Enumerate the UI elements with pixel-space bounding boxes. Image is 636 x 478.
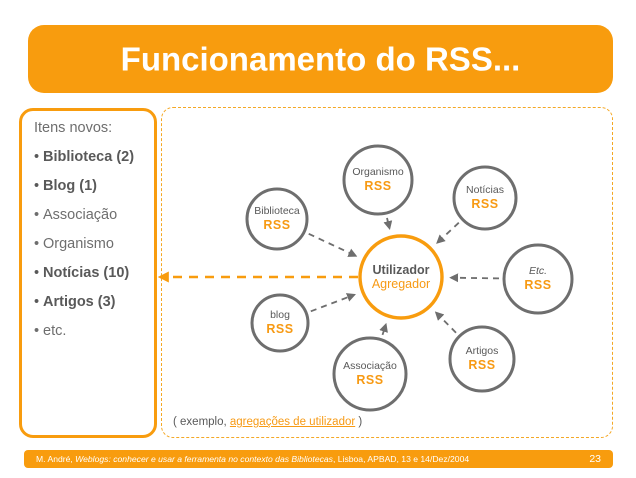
node-label-associa-o: AssociaçãoRSS <box>343 361 397 387</box>
bullet-icon: • <box>34 150 43 166</box>
source-node-name: Biblioteca <box>254 206 300 218</box>
footer-work-title: Weblogs: conhecer e usar a ferramenta no… <box>75 454 333 464</box>
page-title: Funcionamento do RSS... <box>28 43 613 76</box>
node-label-organismo: OrganismoRSS <box>352 167 403 193</box>
source-node-rss-badge: RSS <box>466 197 504 211</box>
new-items-list-item: •Biblioteca (2) <box>34 150 154 166</box>
source-node-name: blog <box>266 310 293 322</box>
source-node-rss-badge: RSS <box>266 322 293 336</box>
source-node-rss-badge: RSS <box>466 358 499 372</box>
bullet-icon: • <box>34 266 43 282</box>
source-node-name: Etc. <box>524 266 551 278</box>
source-node-rss-badge: RSS <box>254 218 300 232</box>
new-items-list-item-label: Notícias (10) <box>43 265 129 281</box>
bullet-icon: • <box>34 237 43 253</box>
new-items-list-item-label: Artigos (3) <box>43 294 116 310</box>
diagram-caption: ( exemplo, agregações de utilizador ) <box>173 416 362 428</box>
new-items-list: •Biblioteca (2)•Blog (1)•Associação•Orga… <box>34 150 154 340</box>
bullet-icon: • <box>34 179 43 195</box>
bullet-icon: • <box>34 208 43 224</box>
node-label-artigos: ArtigosRSS <box>466 346 499 372</box>
source-node-name: Associação <box>343 361 397 373</box>
new-items-list-item-label: Biblioteca (2) <box>43 149 134 165</box>
node-label-not-cias: NotíciasRSS <box>466 185 504 211</box>
new-items-list-item-label: etc. <box>43 323 66 339</box>
slide-title-bar: Funcionamento do RSS... <box>28 25 613 93</box>
source-node-name: Organismo <box>352 167 403 179</box>
new-items-list-item: •Notícias (10) <box>34 266 154 282</box>
caption-prefix: ( exemplo, <box>173 416 230 428</box>
new-items-list-item: •Associação <box>34 208 154 224</box>
new-items-list-item: •etc. <box>34 324 154 340</box>
source-node-rss-badge: RSS <box>343 373 397 387</box>
source-node-name: Notícias <box>466 185 504 197</box>
caption-suffix: ) <box>355 416 362 428</box>
node-label-utilizador-agregador: Utilizador Agregador <box>372 263 430 291</box>
new-items-panel: Itens novos: •Biblioteca (2)•Blog (1)•As… <box>19 108 157 438</box>
new-items-list-item-label: Organismo <box>43 236 114 252</box>
new-items-list-item: •Blog (1) <box>34 179 154 195</box>
node-label-etc: Etc.RSS <box>524 266 551 292</box>
footer-author: M. André, <box>36 454 75 464</box>
source-node-rss-badge: RSS <box>524 278 551 292</box>
new-items-list-item: •Artigos (3) <box>34 295 154 311</box>
new-items-list-item: •Organismo <box>34 237 154 253</box>
node-label-blog: blogRSS <box>266 310 293 336</box>
bullet-icon: • <box>34 295 43 311</box>
center-node-name: Utilizador <box>372 263 430 277</box>
bullet-icon: • <box>34 324 43 340</box>
footer-citation: M. André, Weblogs: conhecer e usar a fer… <box>36 454 469 464</box>
source-node-rss-badge: RSS <box>352 179 403 193</box>
new-items-header: Itens novos: <box>34 121 154 137</box>
new-items-list-item-label: Associação <box>43 207 117 223</box>
center-node-sub: Agregador <box>372 277 430 291</box>
footer-bar: M. André, Weblogs: conhecer e usar a fer… <box>24 450 613 468</box>
caption-link[interactable]: agregações de utilizador <box>230 416 355 428</box>
new-items-list-item-label: Blog (1) <box>43 178 97 194</box>
footer-publication: , Lisboa, APBAD, 13 e 14/Dez/2004 <box>333 454 469 464</box>
slide-number: 23 <box>589 453 601 465</box>
node-label-biblioteca: BibliotecaRSS <box>254 206 300 232</box>
source-node-name: Artigos <box>466 346 499 358</box>
